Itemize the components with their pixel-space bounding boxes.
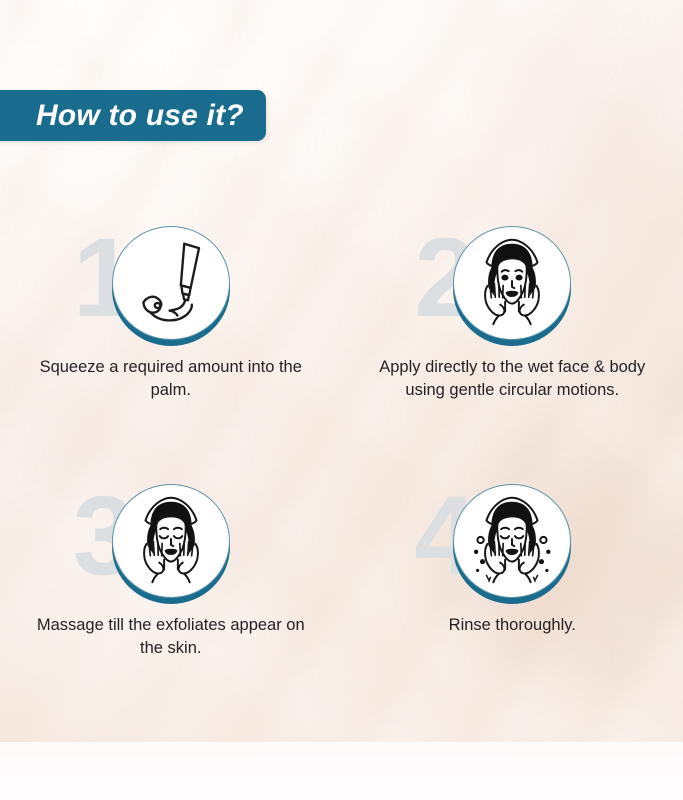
step-icon-circle-1 xyxy=(112,226,230,346)
step-badge-4: 4 xyxy=(412,476,612,604)
step-badge-3: 3 xyxy=(71,476,271,604)
step-badge-2: 2 xyxy=(412,218,612,346)
tube-squeeze-into-palm-icon xyxy=(112,226,230,340)
step-icon-circle-4 xyxy=(453,484,571,604)
step-caption-1: Squeeze a required amount into the palm. xyxy=(26,356,316,402)
step-item-2: 2 xyxy=(342,218,683,476)
step-item-4: 4 xyxy=(342,476,683,734)
how-to-use-panel: How to use it? 1 xyxy=(0,0,683,800)
step-icon-circle-3 xyxy=(112,484,230,604)
rinse-face-icon xyxy=(453,484,571,598)
step-caption-3: Massage till the exfoliates appear on th… xyxy=(26,614,316,660)
step-item-1: 1 xyxy=(0,218,342,476)
step-badge-1: 1 xyxy=(71,218,271,346)
page-title: How to use it? xyxy=(36,99,244,133)
step-item-3: 3 xyxy=(0,476,342,734)
section-title-banner: How to use it? xyxy=(0,90,266,141)
apply-to-face-icon xyxy=(453,226,571,340)
step-caption-4: Rinse thoroughly. xyxy=(367,614,657,637)
massage-face-icon xyxy=(112,484,230,598)
steps-grid: 1 xyxy=(0,218,683,734)
step-icon-circle-2 xyxy=(453,226,571,346)
background-bottom-band xyxy=(0,742,683,800)
step-caption-2: Apply directly to the wet face & body us… xyxy=(367,356,657,402)
